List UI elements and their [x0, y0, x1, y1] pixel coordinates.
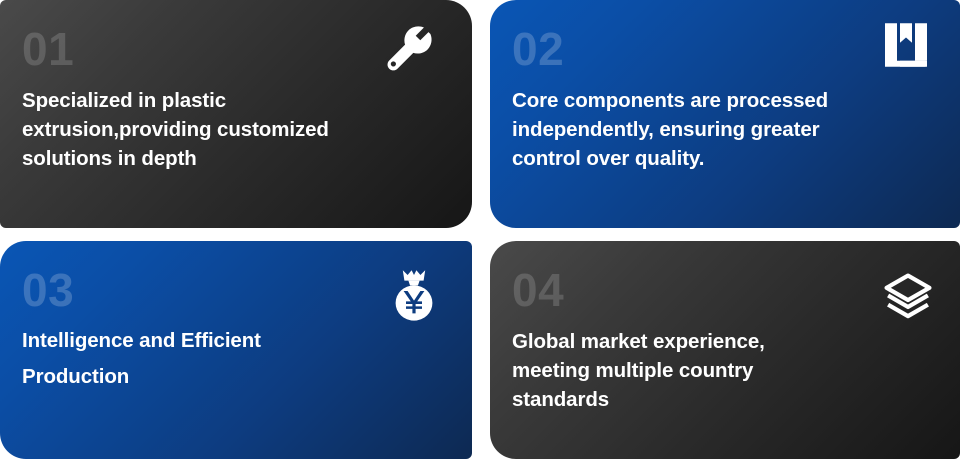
- book-bookmark-icon: [880, 22, 932, 74]
- feature-card-grid: 01 Specialized in plastic extrusion,prov…: [0, 0, 960, 459]
- wrench-icon: [382, 22, 434, 74]
- layers-stack-icon: [882, 271, 934, 323]
- card-number-02: 02: [512, 26, 934, 72]
- card-text-03: Intelligence and Efficient Production: [22, 323, 446, 395]
- card-number-04: 04: [512, 267, 934, 313]
- money-bag-yen-icon: [388, 269, 440, 321]
- card-text-01: Specialized in plastic extrusion,providi…: [22, 86, 446, 173]
- card-text-04: Global market experience, meeting multip…: [512, 327, 934, 414]
- feature-card-03[interactable]: 03 Intelligence and Efficient Production: [0, 241, 472, 459]
- card-number-03: 03: [22, 267, 446, 313]
- feature-card-01[interactable]: 01 Specialized in plastic extrusion,prov…: [0, 0, 472, 228]
- feature-card-04[interactable]: 04 Global market experience, meeting mul…: [490, 241, 960, 459]
- card-text-02: Core components are processed independen…: [512, 86, 934, 173]
- feature-card-02[interactable]: 02 Core components are processed indepen…: [490, 0, 960, 228]
